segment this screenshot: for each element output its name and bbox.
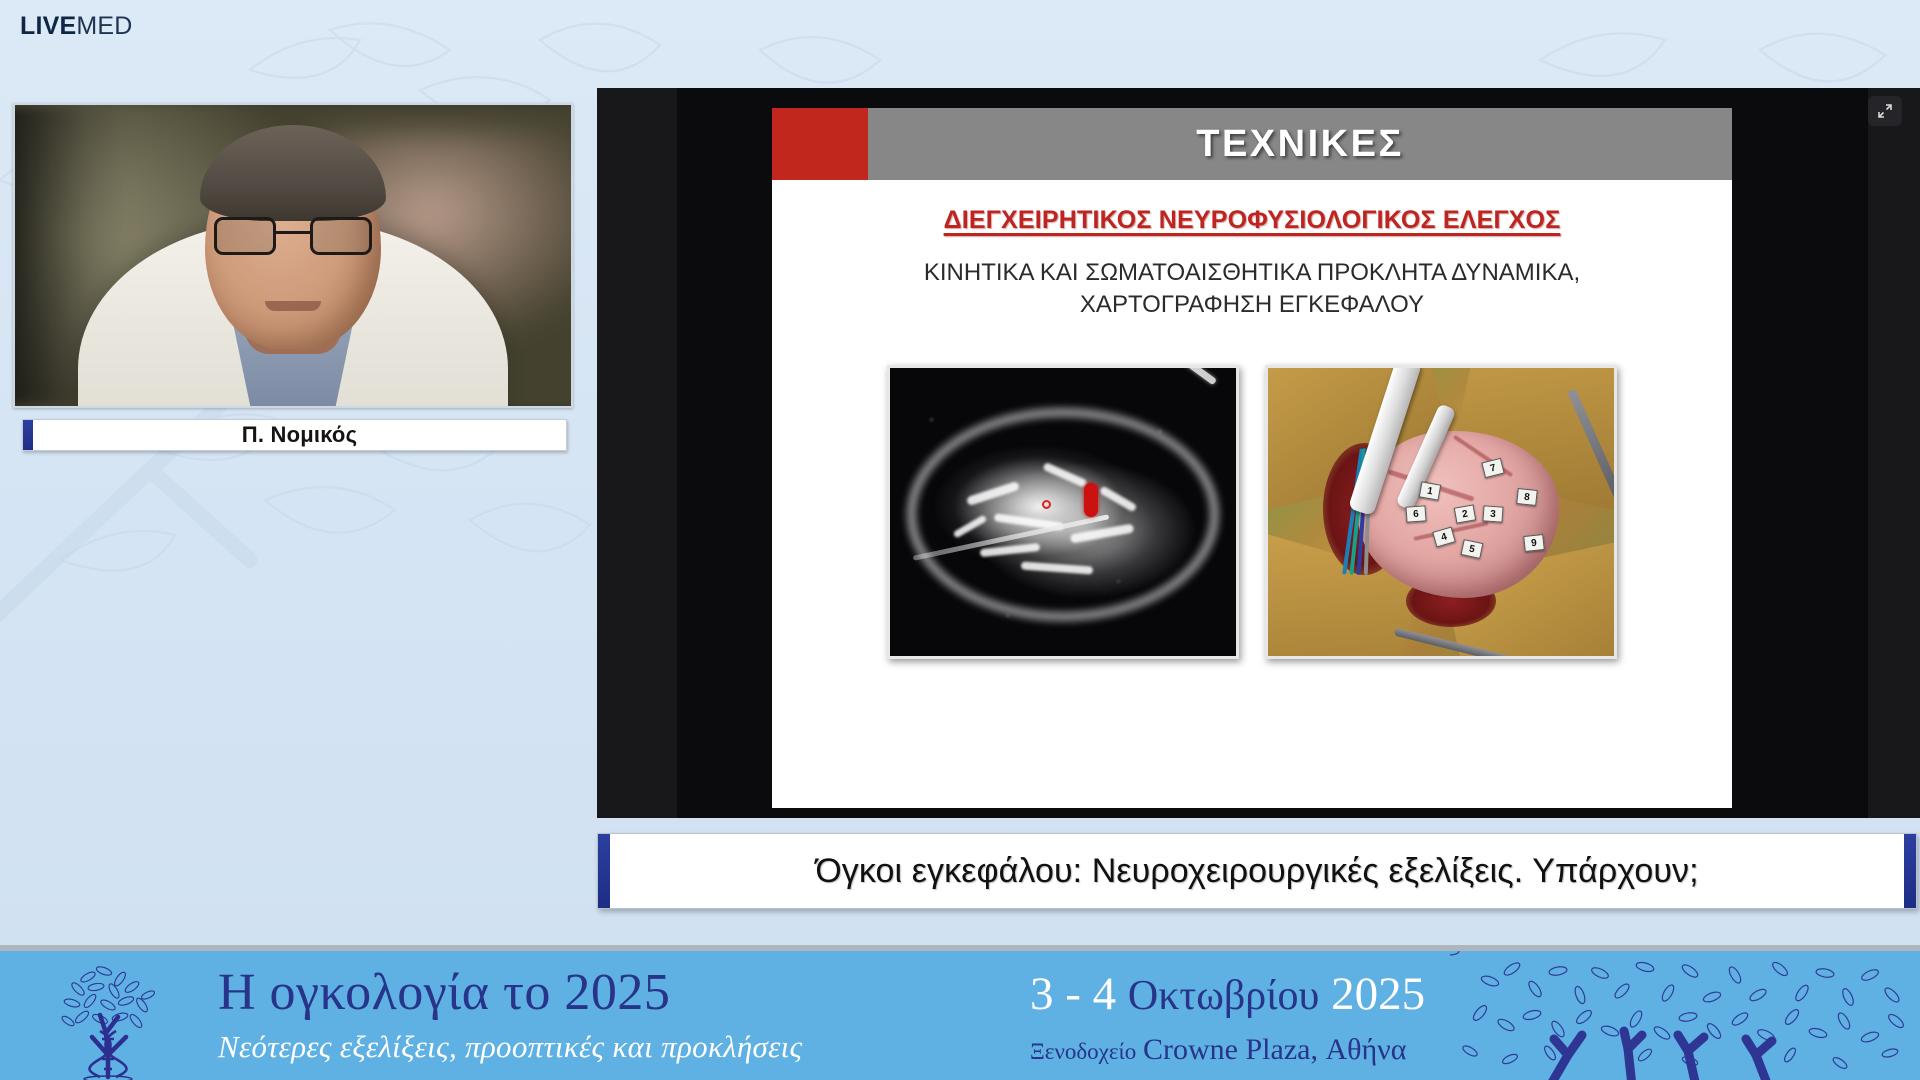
mri-gyri-pattern: [890, 368, 1236, 656]
slide-subtitle: ΔΙΕΓΧΕΙΡΗΤΙΚΟΣ ΝΕΥΡΟΦΥΣΙΟΛΟΓΙΚΟΣ ΕΛΕΓΧΟΣ: [772, 206, 1732, 235]
intraoperative-cortical-mapping-image: 7 8 9 1 2 3 4 5 6: [1265, 365, 1617, 659]
player-letterbox-left: [597, 88, 677, 818]
speaker-glasses: [214, 217, 372, 257]
congress-banner: Η ογκολογία το 2025 Νεότερες εξελίξεις, …: [0, 945, 1920, 1080]
slide-body-text: ΚΙΝΗΤΙΚΑ ΚΑΙ ΣΩΜΑΤΟΑΙΣΘΗΤΙΚΑ ΠΡΟΚΛΗΤΑ ΔΥ…: [772, 257, 1732, 321]
electrode-tag: 2: [1454, 504, 1476, 523]
presentation-slide: ΤΕΧΝΙΚΕΣ ΔΙΕΓΧΕΙΡΗΤΙΚΟΣ ΝΕΥΡΟΦΥΣΙΟΛΟΓΙΚΟ…: [772, 108, 1732, 808]
electrode-tag: 9: [1523, 534, 1545, 552]
slide-player[interactable]: ΤΕΧΝΙΚΕΣ ΔΙΕΓΧΕΙΡΗΤΙΚΟΣ ΝΕΥΡΟΦΥΣΙΟΛΟΓΙΚΟ…: [597, 88, 1920, 818]
mri-lesion-marker: [1084, 483, 1098, 517]
congress-venue-prefix: Ξενοδοχείο: [1030, 1039, 1136, 1064]
session-accent-right: [1904, 834, 1916, 908]
speaker-name: Π. Νομικός: [33, 422, 566, 448]
congress-title: Η ογκολογία το 2025: [218, 963, 670, 1022]
slide-header: ΤΕΧΝΙΚΕΣ: [772, 108, 1732, 180]
livemed-logo: LIVEMED: [20, 14, 133, 39]
congress-venue: Ξενοδοχείο Crowne Plaza, Αθήνα: [1030, 1033, 1406, 1067]
player-letterbox-right: [1868, 88, 1920, 818]
speaker-video-card[interactable]: [13, 103, 573, 408]
glasses-right-lens: [310, 217, 372, 255]
congress-date-year: 2025: [1331, 968, 1425, 1020]
expand-fullscreen-icon: [1877, 103, 1893, 119]
slide-header-title: ΤΕΧΝΙΚΕΣ: [1196, 123, 1404, 166]
electrode-tag: 3: [1482, 505, 1503, 522]
speaker-mouth: [265, 301, 321, 311]
glasses-left-lens: [214, 217, 276, 255]
electrode-tag: 5: [1460, 539, 1483, 559]
congress-venue-name: Crowne Plaza, Αθήνα: [1143, 1033, 1406, 1066]
electrode-tag: 8: [1516, 488, 1538, 506]
session-title: Όγκοι εγκεφάλου: Νευροχειρουργικές εξελί…: [610, 852, 1904, 891]
nameplate-accent-bar: [23, 420, 33, 450]
congress-date-month: Οκτωβρίου: [1128, 973, 1319, 1019]
congress-date: 3 - 4 Οκτωβρίου 2025: [1030, 967, 1425, 1021]
app-root: LIVEMED Π. Νομικός: [0, 0, 1920, 1080]
expand-fullscreen-button[interactable]: [1868, 96, 1902, 126]
speaker-nameplate: Π. Νομικός: [22, 419, 567, 451]
brand-med-text: MED: [76, 12, 132, 40]
brand-live-text: LIVE: [20, 12, 76, 40]
session-title-bar: Όγκοι εγκεφάλου: Νευροχειρουργικές εξελί…: [597, 833, 1917, 909]
slide-body-line-1: ΚΙΝΗΤΙΚΑ ΚΑΙ ΣΩΜΑΤΟΑΙΣΘΗΤΙΚΑ ΠΡΟΚΛΗΤΑ ΔΥ…: [772, 257, 1732, 289]
congress-subtitle: Νεότερες εξελίξεις, προοπτικές και προκλ…: [218, 1029, 802, 1065]
slide-header-grey-band: ΤΕΧΝΙΚΕΣ: [868, 108, 1732, 180]
banner-tree-decoration: [1450, 951, 1920, 1080]
brain-mri-probe-image: [887, 365, 1239, 659]
glasses-bridge: [276, 231, 310, 234]
electrode-tag: 1: [1419, 481, 1441, 500]
speaker-video-feed: [15, 105, 571, 406]
slide-figures: 7 8 9 1 2 3 4 5 6: [772, 365, 1732, 659]
slide-header-red-block: [772, 108, 868, 180]
slide-body-line-2: ΧΑΡΤΟΓΡΑΦΗΣΗ ΕΓΚΕΦΑΛΟΥ: [772, 289, 1732, 321]
dna-tree-logo: [48, 959, 178, 1080]
congress-date-range: 3 - 4: [1030, 968, 1116, 1020]
session-accent-left: [598, 834, 610, 908]
electrode-tag: 6: [1406, 505, 1427, 522]
